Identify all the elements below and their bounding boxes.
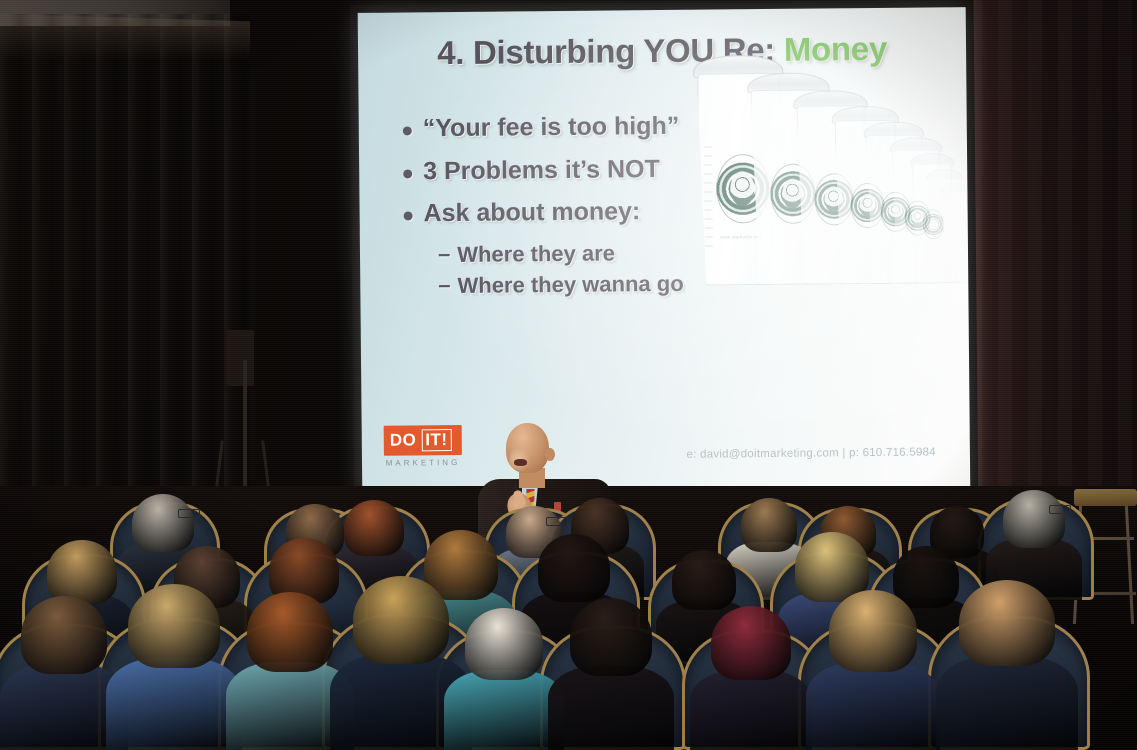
audience-member-head xyxy=(570,598,652,676)
logo-tagline: MARKETING xyxy=(384,458,462,468)
audience-member-head xyxy=(465,608,543,680)
eyeglasses-icon xyxy=(546,517,568,526)
bullet-dot-icon xyxy=(403,169,412,178)
audience-member-torso xyxy=(548,666,674,750)
audience-member-head xyxy=(344,500,404,556)
bullet-text: Ask about money: xyxy=(423,197,640,229)
sub-bullet-text: Where they wanna go xyxy=(457,271,683,298)
bullet-dot-icon xyxy=(404,211,413,220)
bullet-item: “Your fee is too high” xyxy=(403,111,733,144)
bullet-item: Ask about money: xyxy=(403,196,733,229)
sub-bullet-text: Where they are xyxy=(457,240,615,267)
bullet-dot-icon xyxy=(403,126,412,135)
audience-member-torso xyxy=(690,670,812,750)
doit-marketing-logo: DO IT! MARKETING xyxy=(384,425,462,468)
bullet-text: 3 Problems it’s NOT xyxy=(423,155,660,187)
audience-member-head xyxy=(1003,490,1065,548)
logo-word-do: DO xyxy=(390,430,417,450)
audience xyxy=(0,485,1137,750)
cup-body xyxy=(942,191,971,283)
audience-member-head xyxy=(672,550,736,610)
audience-member-head xyxy=(829,590,917,672)
audience-member-head xyxy=(353,576,449,664)
audience-member-head xyxy=(959,580,1055,666)
logo-word-it: IT! xyxy=(421,429,451,451)
sub-bullet-item: – Where they wanna go xyxy=(438,270,734,298)
presenter-ear xyxy=(545,448,555,461)
audience-member-head xyxy=(132,494,194,552)
audience-member-torso xyxy=(444,670,564,750)
audience-member-head xyxy=(741,498,797,552)
coffee-cups-image: www.starbucks.com xyxy=(693,21,967,284)
coffee-cup xyxy=(940,183,969,281)
bullet-item: 3 Problems it’s NOT xyxy=(403,154,733,187)
audience-member-head xyxy=(711,606,791,680)
photo-scene: 4. Disturbing YOU Re: Money “Your fee is… xyxy=(0,0,1137,750)
bullet-text: “Your fee is too high” xyxy=(423,112,680,144)
audience-member-head xyxy=(893,546,959,608)
audience-member-head xyxy=(247,592,333,672)
audience-member-head xyxy=(47,540,117,604)
presentation-slide: 4. Disturbing YOU Re: Money “Your fee is… xyxy=(358,7,971,500)
dash-icon: – xyxy=(438,273,450,297)
audience-member-head xyxy=(538,534,610,602)
eyeglasses-icon xyxy=(178,509,200,518)
audience-member-torso xyxy=(936,656,1078,750)
audience-member-torso xyxy=(106,658,242,750)
audience-member-torso xyxy=(806,662,940,750)
audience-member-head xyxy=(128,584,220,668)
dash-icon: – xyxy=(438,242,450,266)
audience-member-head xyxy=(21,596,107,674)
eyeglasses-icon xyxy=(1049,505,1071,514)
loudspeaker-on-tripod xyxy=(226,330,254,386)
logo-orange-bar: DO IT! xyxy=(384,425,462,456)
presenter-mouth xyxy=(514,459,527,466)
cup-texture xyxy=(704,146,713,251)
sub-bullet-item: – Where they are xyxy=(438,239,734,267)
slide-bullet-list: “Your fee is too high” 3 Problems it’s N… xyxy=(403,111,735,302)
contact-info-text: e: david@doitmarketing.com | p: 610.716.… xyxy=(686,446,936,460)
